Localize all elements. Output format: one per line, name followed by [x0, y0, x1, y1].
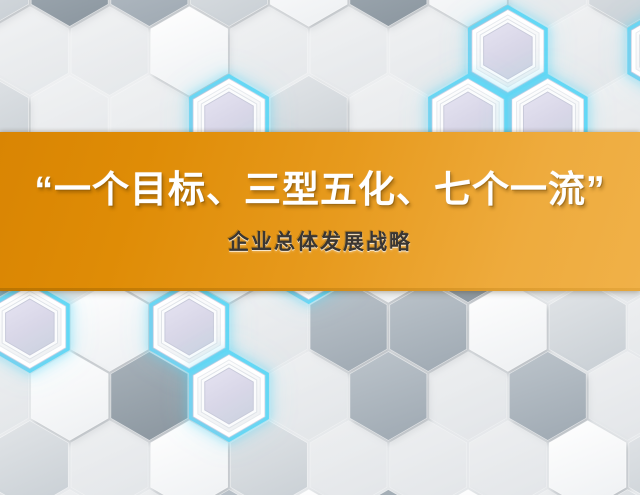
slide-subtitle: 企业总体发展战略: [228, 232, 412, 253]
title-banner: “一个目标、三型五化、七个一流” 企业总体发展战略: [0, 132, 640, 291]
slide-main-title: “一个目标、三型五化、七个一流”: [35, 171, 606, 210]
title-slide: “一个目标、三型五化、七个一流” 企业总体发展战略: [0, 0, 640, 495]
